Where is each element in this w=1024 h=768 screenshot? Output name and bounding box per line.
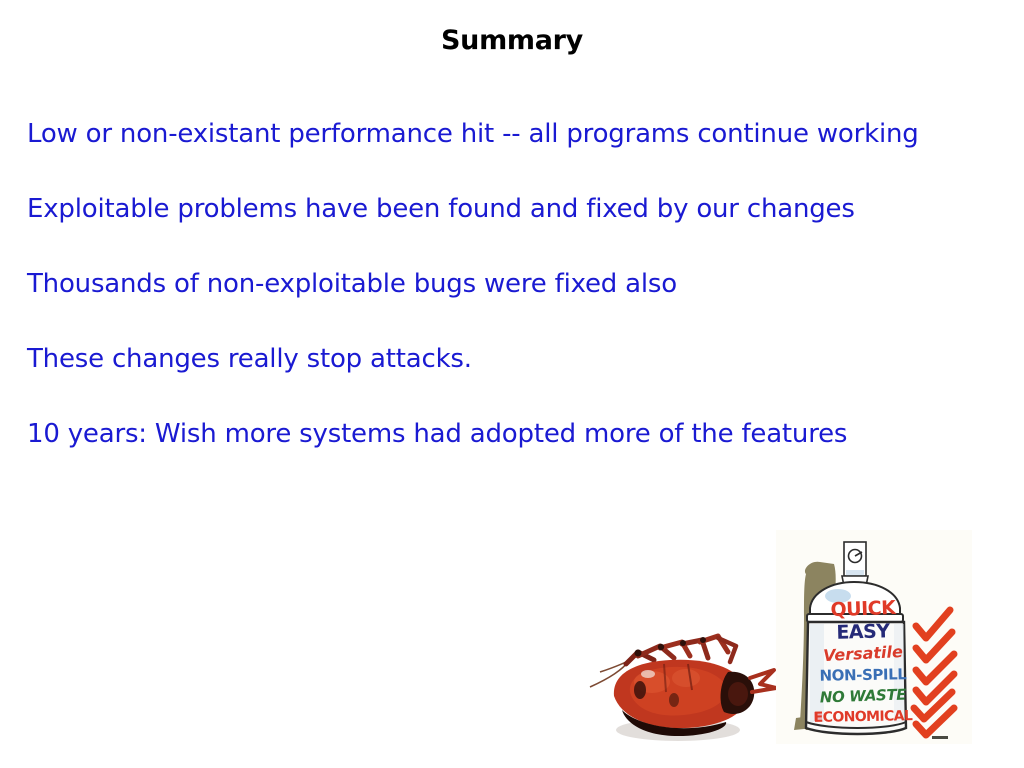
bullet-line-5: 10 years: Wish more systems had adopted … (27, 418, 997, 450)
can-label-easy: EASY (810, 622, 916, 644)
bullet-line-4: These changes really stop attacks. (27, 343, 997, 375)
can-label-quick: QUICK (810, 598, 917, 621)
bullet-line-1: Low or non-existant performance hit -- a… (27, 118, 997, 150)
bullet-line-3: Thousands of non-exploitable bugs were f… (27, 268, 997, 300)
can-label-versatile: Versatile (810, 643, 917, 665)
presentation-slide: Summary Low or non-existant performance … (0, 0, 1024, 768)
page-title: Summary (0, 24, 1024, 58)
bullet-line-2: Exploitable problems have been found and… (27, 193, 997, 225)
bullet-list: Low or non-existant performance hit -- a… (27, 118, 997, 450)
can-label-no-waste: NO WASTE (810, 687, 916, 706)
insecticide-spray-can-cartoon: QUICK EASY Versatile NON-SPILL NO WASTE … (776, 530, 972, 744)
can-label-economical: ECONOMICAL (810, 709, 916, 725)
spray-can-label-list: QUICK EASY Versatile NON-SPILL NO WASTE … (810, 600, 916, 736)
can-label-non-spill: NON-SPILL (810, 667, 916, 684)
dead-cockroach-photo (578, 612, 786, 752)
